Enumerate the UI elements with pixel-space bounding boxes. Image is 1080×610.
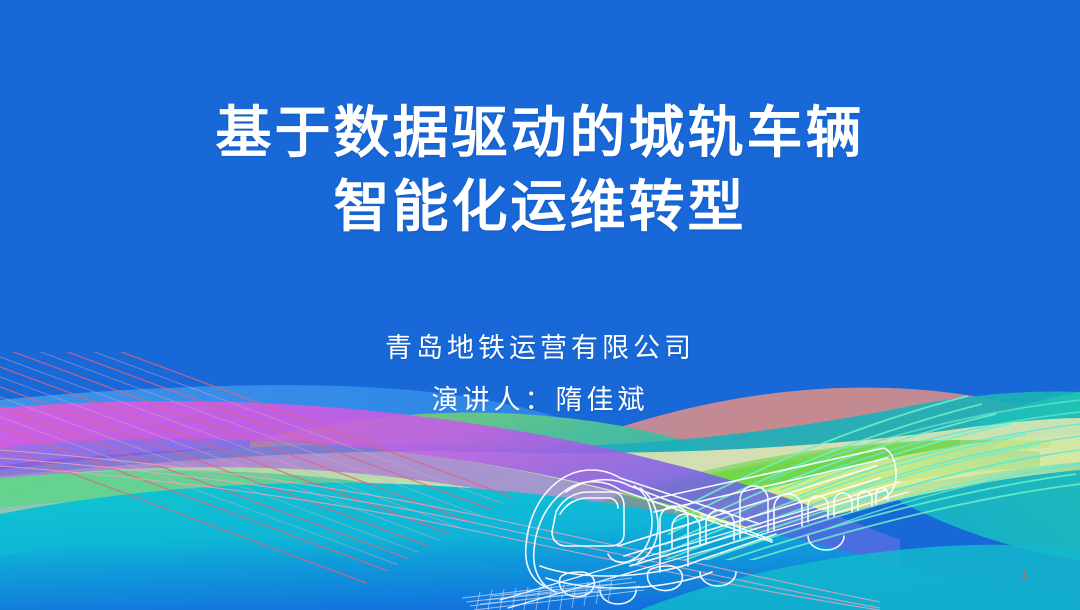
slide-title: 基于数据驱动的城轨车辆 智能化运维转型: [0, 96, 1080, 244]
title-line-1: 基于数据驱动的城轨车辆: [0, 96, 1080, 170]
decorative-background: [0, 0, 1080, 610]
organization-name: 青岛地铁运营有限公司: [0, 322, 1080, 374]
presentation-slide: 基于数据驱动的城轨车辆 智能化运维转型 青岛地铁运营有限公司 演讲人：隋佳斌 1: [0, 0, 1080, 610]
title-line-2: 智能化运维转型: [0, 170, 1080, 244]
page-number: 1: [1021, 567, 1028, 582]
slide-subtitle: 青岛地铁运营有限公司 演讲人：隋佳斌: [0, 322, 1080, 426]
presenter-name: 演讲人：隋佳斌: [0, 374, 1080, 426]
